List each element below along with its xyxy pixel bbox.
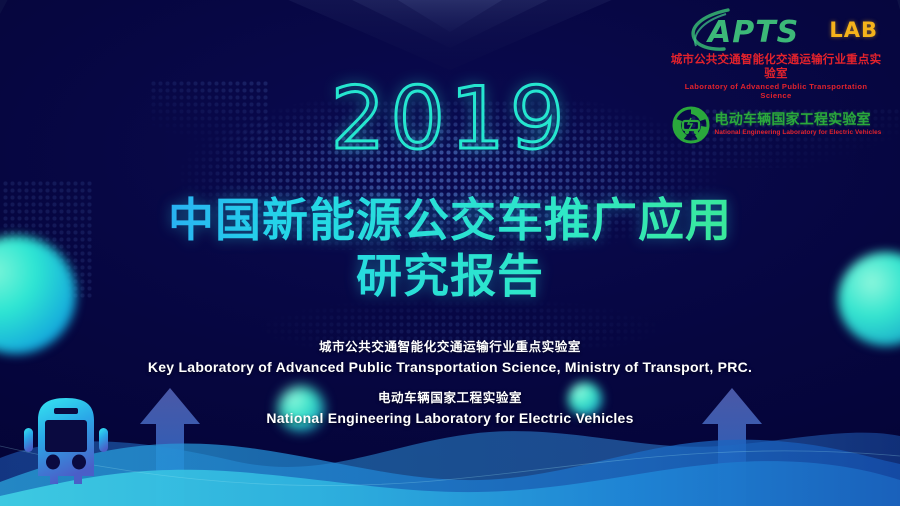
subtitle-block: 城市公共交通智能化交通运输行业重点实验室 Key Laboratory of A… (0, 336, 900, 426)
nel-logo: 电动车辆国家工程实验室 National Engineering Laborat… (668, 105, 884, 145)
nel-en-name: National Engineering Laboratory for Elec… (715, 129, 882, 136)
subtitle-cn-1: 城市公共交通智能化交通运输行业重点实验室 (0, 336, 900, 355)
electric-vehicle-emblem-icon (671, 105, 711, 145)
apts-en-name: Laboratory of Advanced Public Transporta… (668, 82, 884, 100)
poster-canvas: 2019 中国新能源公交车推广应用 研究报告 城市公共交通智能化交通运输行业重点… (0, 0, 900, 506)
page-title-line-2: 研究报告 (0, 248, 900, 304)
subtitle-en-2: National Engineering Laboratory for Elec… (0, 410, 900, 426)
apts-cn-name: 城市公共交通智能化交通运输行业重点实验室 (668, 52, 884, 81)
swoosh-icon: APTS (686, 6, 836, 52)
subtitle-en-1: Key Laboratory of Advanced Public Transp… (0, 359, 900, 375)
page-title-line-1: 中国新能源公交车推广应用 (168, 193, 732, 247)
page-title: 中国新能源公交车推广应用 研究报告 (0, 192, 900, 304)
apts-logo: APTS LAB (668, 6, 884, 52)
svg-text:APTS: APTS (706, 15, 799, 50)
apts-lab-label: LAB (829, 18, 878, 42)
nel-cn-name: 电动车辆国家工程实验室 (715, 113, 882, 128)
subtitle-cn-2: 电动车辆国家工程实验室 (0, 387, 900, 406)
logo-block: APTS LAB 城市公共交通智能化交通运输行业重点实验室 Laboratory… (668, 6, 884, 145)
